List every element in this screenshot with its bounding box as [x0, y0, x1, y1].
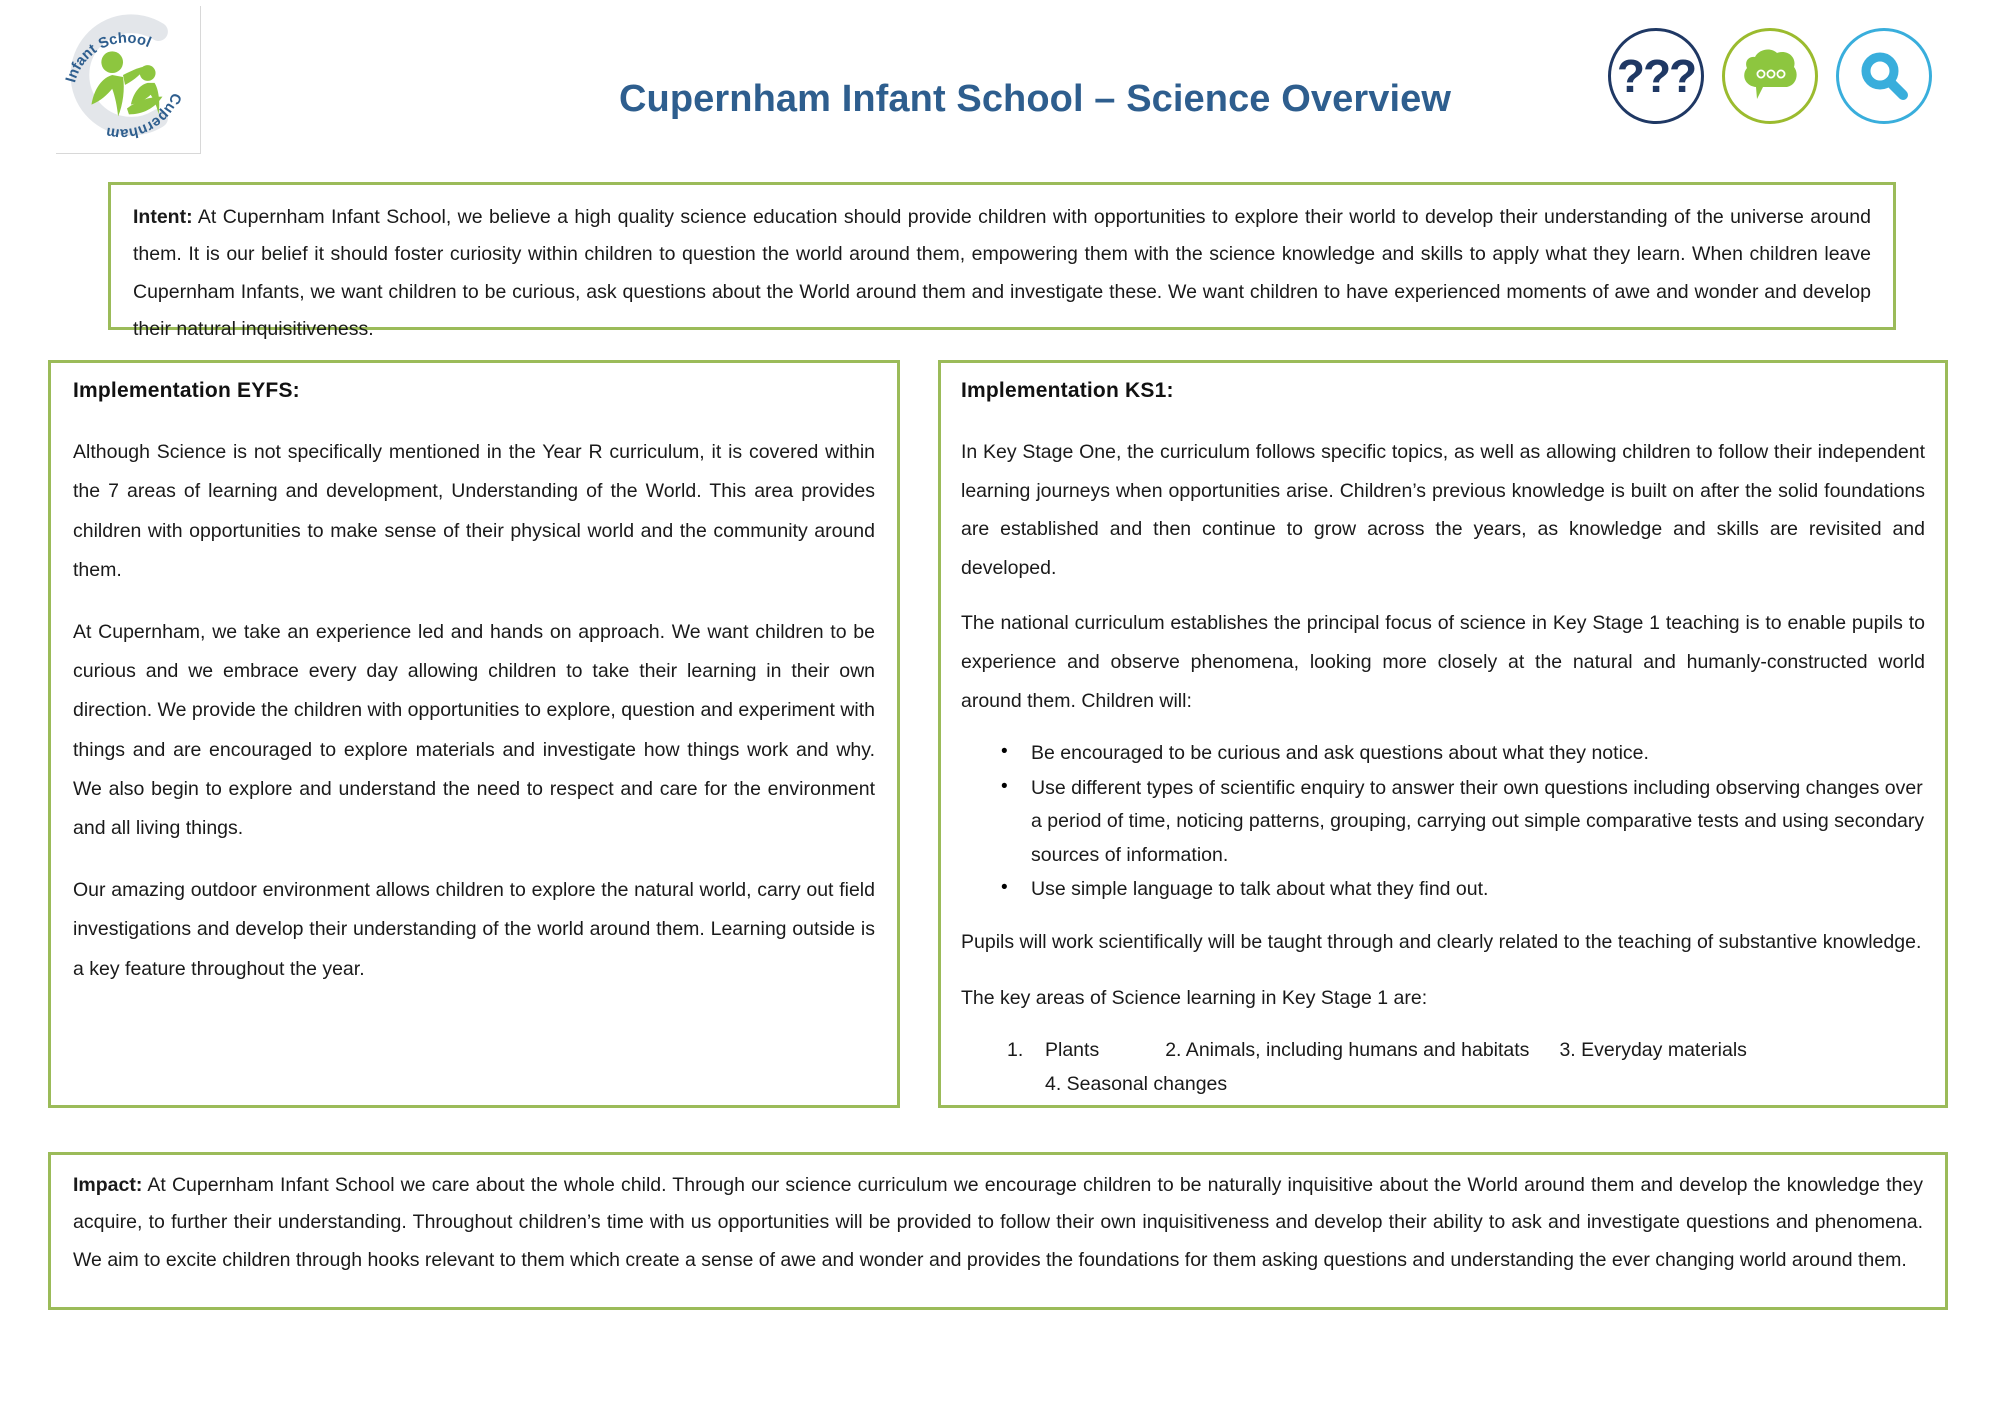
question-marks-icon: ??? — [1608, 28, 1704, 124]
impact-box: Impact: At Cupernham Infant School we ca… — [48, 1152, 1948, 1310]
speech-bubble-glyph — [1739, 47, 1801, 105]
key-area-1: Plants — [1045, 1034, 1099, 1068]
impact-label: Impact: — [73, 1174, 142, 1196]
ks1-paragraph-1: In Key Stage One, the curriculum follows… — [961, 433, 1925, 587]
ks1-bullet-list: Be encouraged to be curious and ask ques… — [961, 737, 1925, 907]
impact-body: At Cupernham Infant School we care about… — [73, 1174, 1923, 1271]
ks1-paragraph-2: The national curriculum establishes the … — [961, 604, 1925, 720]
header-icon-group: ??? — [1608, 28, 1932, 124]
page-header: Infant School Cupernham Cupernham Infant… — [0, 0, 2000, 165]
eyfs-paragraph-1: Although Science is not specifically men… — [73, 433, 875, 591]
intent-paragraph: Intent: At Cupernham Infant School, we b… — [133, 199, 1871, 349]
ks1-heading: Implementation KS1: — [961, 379, 1925, 403]
magnifier-glyph — [1855, 47, 1913, 105]
ks1-paragraph-4: The key areas of Science learning in Key… — [961, 979, 1925, 1018]
eyfs-heading: Implementation EYFS: — [73, 379, 875, 403]
question-marks-label: ??? — [1617, 53, 1695, 99]
list-item: Be encouraged to be curious and ask ques… — [1031, 737, 1925, 771]
implementation-eyfs-box: Implementation EYFS: Although Science is… — [48, 360, 900, 1108]
ks1-paragraph-3: Pupils will work scientifically will be … — [961, 923, 1925, 962]
eyfs-paragraph-2: At Cupernham, we take an experience led … — [73, 613, 875, 849]
key-area-2: 2. Animals, including humans and habitat… — [1165, 1034, 1529, 1068]
speech-bubble-icon — [1722, 28, 1818, 124]
intent-body: At Cupernham Infant School, we believe a… — [133, 206, 1871, 340]
implementation-ks1-box: Implementation KS1: In Key Stage One, th… — [938, 360, 1948, 1108]
ks1-key-areas-list: Plants2. Animals, including humans and h… — [961, 1034, 1925, 1068]
impact-paragraph: Impact: At Cupernham Infant School we ca… — [73, 1167, 1923, 1279]
key-area-4: 4. Seasonal changes — [961, 1068, 1925, 1102]
key-area-3: 3. Everyday materials — [1559, 1034, 1747, 1068]
magnifier-icon — [1836, 28, 1932, 124]
intent-label: Intent: — [133, 206, 193, 228]
list-item: Use simple language to talk about what t… — [1031, 873, 1925, 907]
list-item: Plants2. Animals, including humans and h… — [1045, 1034, 1925, 1068]
intent-box: Intent: At Cupernham Infant School, we b… — [108, 182, 1896, 330]
eyfs-paragraph-3: Our amazing outdoor environment allows c… — [73, 871, 875, 989]
school-logo-svg: Infant School Cupernham — [56, 6, 194, 144]
list-item: Use different types of scientific enquir… — [1031, 772, 1925, 873]
